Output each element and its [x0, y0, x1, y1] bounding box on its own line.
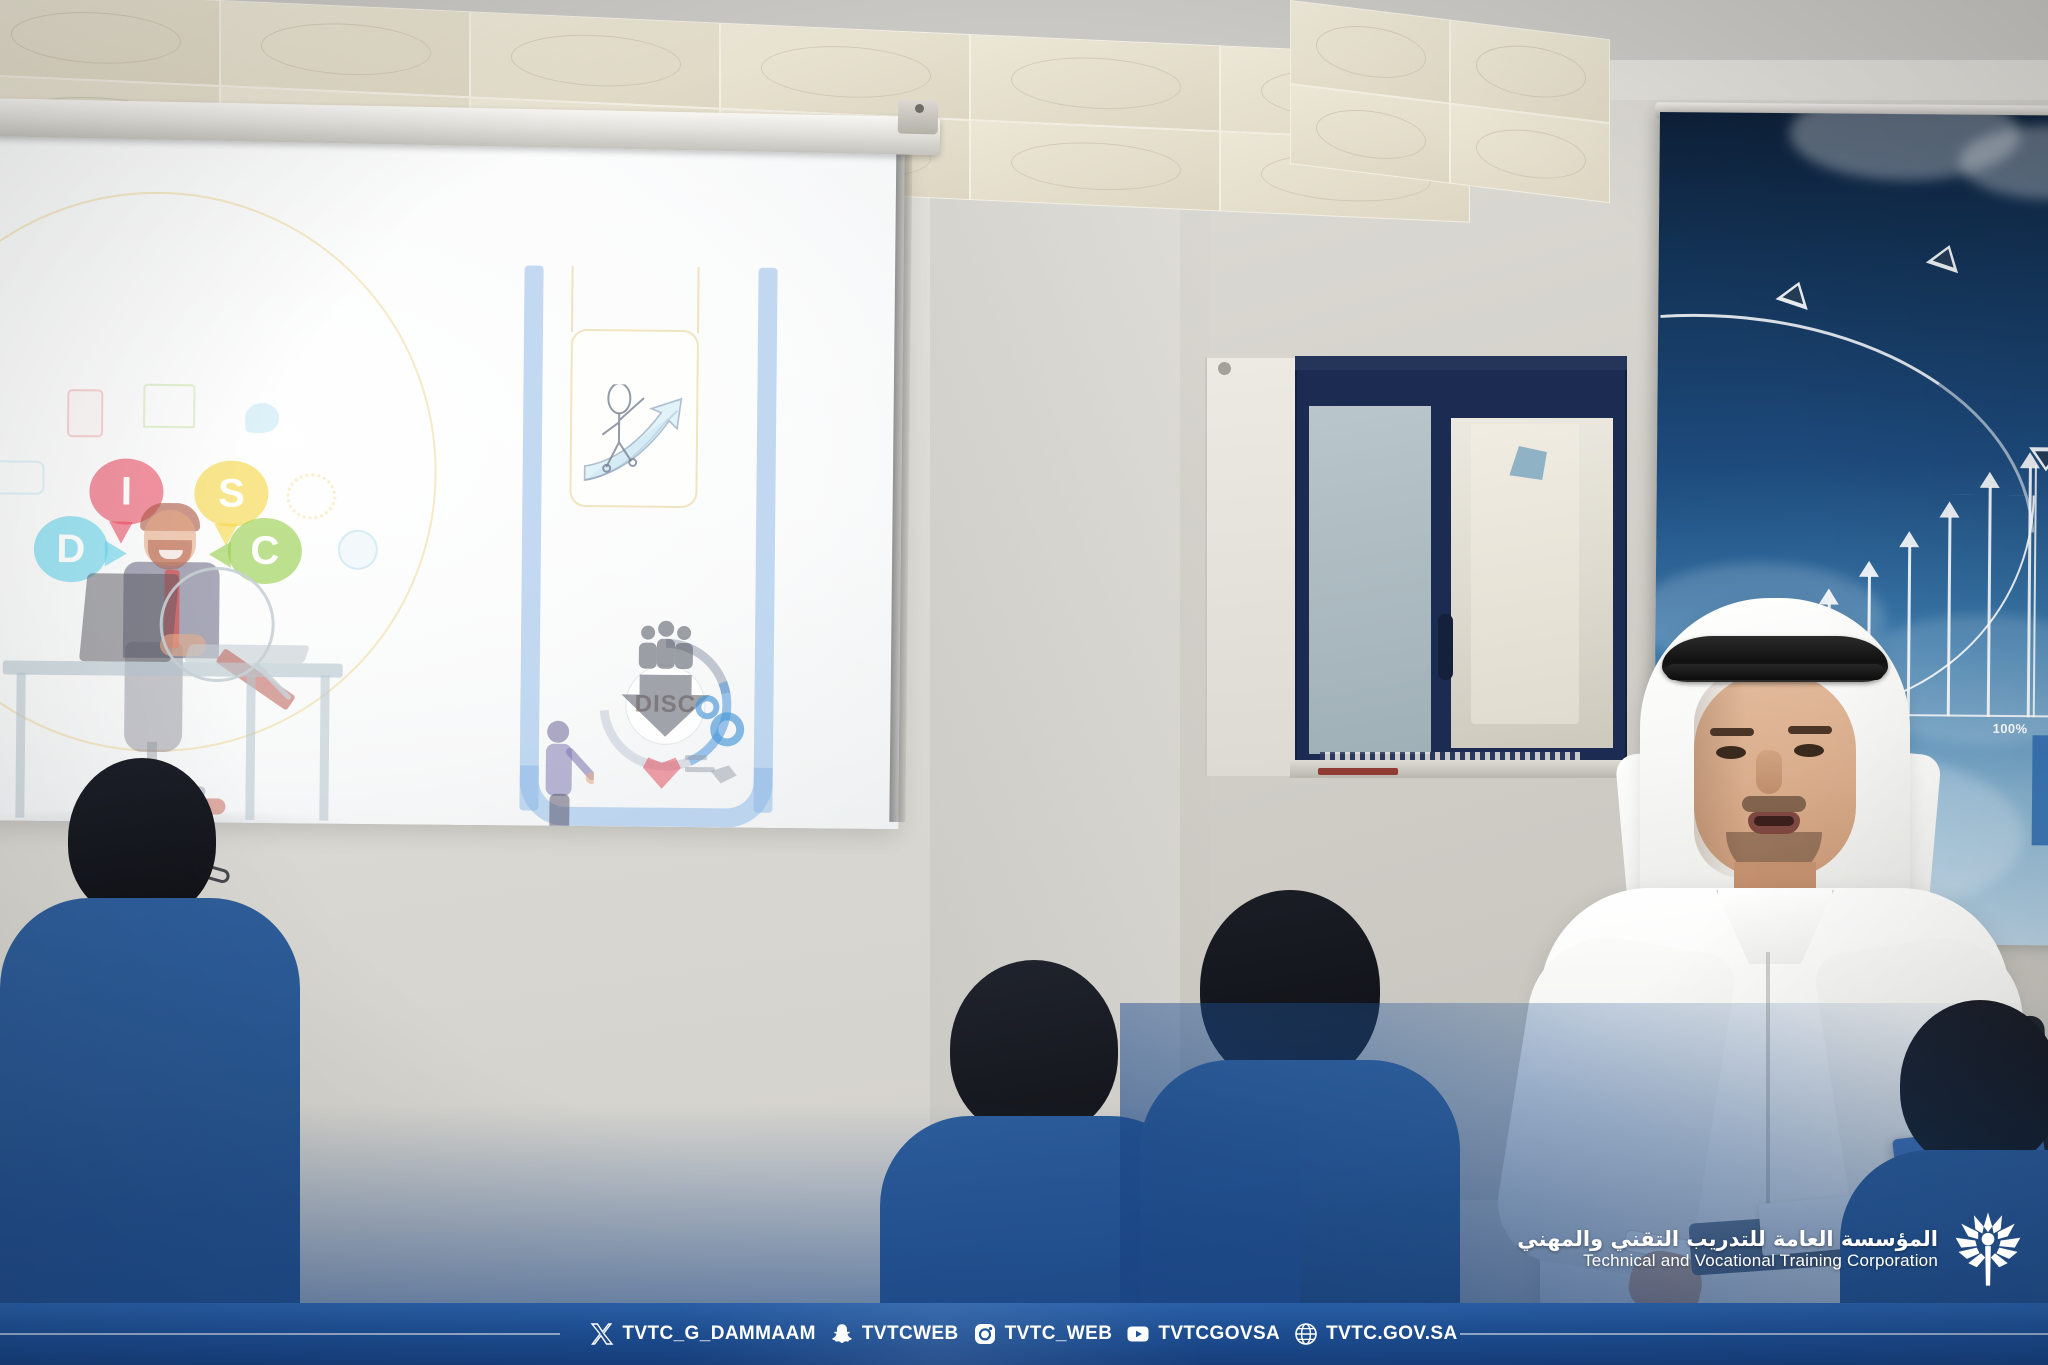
laptop-icon — [143, 384, 195, 428]
disc-letter-i: I — [121, 469, 133, 514]
presenter-mustache — [1742, 796, 1806, 812]
palm-rosette-icon — [1952, 1211, 2024, 1287]
presenter-eyebrow-left — [1710, 728, 1754, 736]
slide-rail-right — [753, 268, 777, 813]
snapchat-icon — [830, 1322, 854, 1346]
tvtc-logo-text: المؤسسة العامة للتدريب التقني والمهني Te… — [1517, 1227, 1938, 1272]
instagram-icon — [973, 1322, 997, 1346]
window-mullion — [1435, 406, 1451, 756]
presenter-nose — [1756, 750, 1782, 794]
tvtc-logo-english: Technical and Vocational Training Corpor… — [1517, 1251, 1938, 1271]
footer-handle-snapchat: TVTCWEB — [862, 1323, 959, 1345]
window-handle[interactable] — [1438, 614, 1453, 680]
globe-icon — [1294, 1322, 1318, 1346]
footer-link-instagram[interactable]: TVTC_WEB — [973, 1322, 1113, 1346]
growth-arrow-icon — [580, 384, 691, 495]
banner-chevron-icon — [2029, 447, 2048, 471]
window-glass-left — [1309, 406, 1431, 754]
footer-link-snapchat[interactable]: TVTCWEB — [830, 1322, 959, 1346]
disc-wheel-diagram: DISC — [599, 638, 732, 771]
window-top-beam — [1295, 356, 1627, 370]
presenter-eye-left — [1716, 746, 1746, 759]
disc-letter-d: D — [56, 526, 85, 571]
x-twitter-icon — [590, 1322, 614, 1346]
footer-handle-website: TVTC.GOV.SA — [1326, 1323, 1457, 1345]
tvtc-logo-arabic: المؤسسة العامة للتدريب التقني والمهني — [1517, 1227, 1938, 1252]
banner-chevron-icon — [1775, 276, 1815, 310]
disc-letter-s: S — [218, 471, 245, 516]
globe-icon — [338, 530, 378, 570]
projection-screen: D I S C — [0, 120, 905, 829]
footer-rule-left — [0, 1333, 560, 1335]
gears-icon — [286, 473, 336, 519]
window-side-panel — [1205, 356, 1297, 776]
illustration-desk-leg — [319, 675, 329, 820]
window-hinge — [1218, 362, 1231, 375]
magnifier-icon — [154, 562, 295, 703]
clipboard-icon — [67, 389, 103, 437]
footer-links: TVTC_G_DAMMAAM TVTCWEB TVTC_WEB — [590, 1322, 1457, 1346]
banner-chevron-icon — [1926, 240, 1966, 274]
roller-mount-nub — [915, 104, 924, 113]
presenter-eyebrow-right — [1788, 726, 1832, 734]
ceiling-right-section — [1290, 0, 1590, 187]
screenshot-stage: D I S C — [0, 0, 2048, 1365]
gears-icon — [691, 693, 750, 752]
igal-headband-lower — [1666, 664, 1884, 680]
window-red-strip — [1318, 768, 1398, 775]
social-footer-bar: TVTC_G_DAMMAAM TVTCWEB TVTC_WEB — [0, 1303, 2048, 1365]
youtube-icon — [1126, 1322, 1150, 1346]
tvtc-logo: المؤسسة العامة للتدريب التقني والمهني Te… — [1517, 1211, 2024, 1287]
footer-link-x[interactable]: TVTC_G_DAMMAAM — [590, 1322, 816, 1346]
slide-hanger-line — [697, 267, 700, 333]
footer-link-website[interactable]: TVTC.GOV.SA — [1294, 1322, 1457, 1346]
footer-handle-instagram: TVTC_WEB — [1005, 1323, 1113, 1345]
slide-hanger-line — [571, 266, 574, 332]
illustration-presenter-figure — [533, 718, 595, 829]
disc-bubble-s: S — [194, 460, 269, 527]
handshake-icon — [685, 749, 739, 796]
speech-bubble-icon — [245, 403, 279, 433]
footer-handle-x: TVTC_G_DAMMAAM — [622, 1323, 816, 1345]
illustration-desk-leg — [15, 673, 25, 818]
footer-handle-youtube: TVTCGOVSA — [1158, 1323, 1280, 1345]
footer-rule-right — [1460, 1333, 2048, 1335]
presenter-mouth-inner — [1754, 816, 1794, 826]
presenter-eye-right — [1794, 744, 1824, 757]
handshake-icon — [0, 460, 45, 495]
footer-link-youtube[interactable]: TVTCGOVSA — [1126, 1322, 1280, 1346]
